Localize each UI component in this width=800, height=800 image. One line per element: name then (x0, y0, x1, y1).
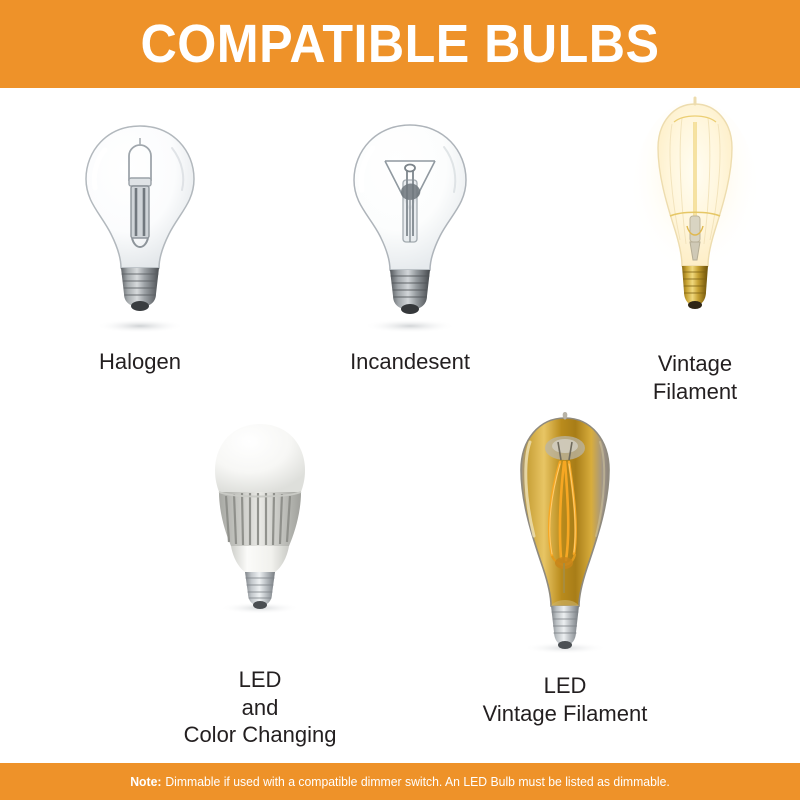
caption-line: Halogen (99, 348, 181, 376)
bulb-card-led-vintage-filament: LED Vintage Filament (455, 408, 675, 727)
bulb-card-led-color-changing: LED and Color Changing (160, 418, 360, 749)
caption-line: Vintage (653, 350, 737, 378)
note-text: Note: Dimmable if used with a compatible… (12, 763, 788, 800)
caption-line: Color Changing (184, 721, 337, 749)
halogen-bulb-icon (75, 118, 205, 338)
bulb-caption-vintage-filament: Vintage Filament (653, 350, 737, 405)
bulb-caption-incandescent: Incandesent (350, 348, 470, 376)
caption-line: Filament (653, 378, 737, 406)
bulb-card-incandescent: Incandesent (310, 118, 510, 376)
bulb-card-halogen: Halogen (40, 118, 240, 376)
compatible-bulbs-infographic: COMPATIBLE BULBS (0, 0, 800, 800)
bulb-caption-led-vintage-filament: LED Vintage Filament (483, 672, 648, 727)
led-bulb-icon (195, 418, 325, 618)
bulb-caption-led-color-changing: LED and Color Changing (184, 666, 337, 749)
led-vintage-filament-bulb-icon (490, 408, 640, 658)
note-label: Note: (130, 775, 161, 789)
vintage-filament-bulb-icon (630, 98, 760, 338)
caption-line: LED (483, 672, 648, 700)
caption-line: and (184, 694, 337, 722)
caption-line: Vintage Filament (483, 700, 648, 728)
caption-line: Incandesent (350, 348, 470, 376)
bulb-caption-halogen: Halogen (99, 348, 181, 376)
incandescent-bulb-icon (345, 118, 475, 338)
note-body: Dimmable if used with a compatible dimme… (165, 775, 669, 789)
caption-line: LED (184, 666, 337, 694)
bulb-card-vintage-filament: Vintage Filament (595, 98, 795, 405)
page-title: COMPATIBLE BULBS (28, 0, 772, 88)
